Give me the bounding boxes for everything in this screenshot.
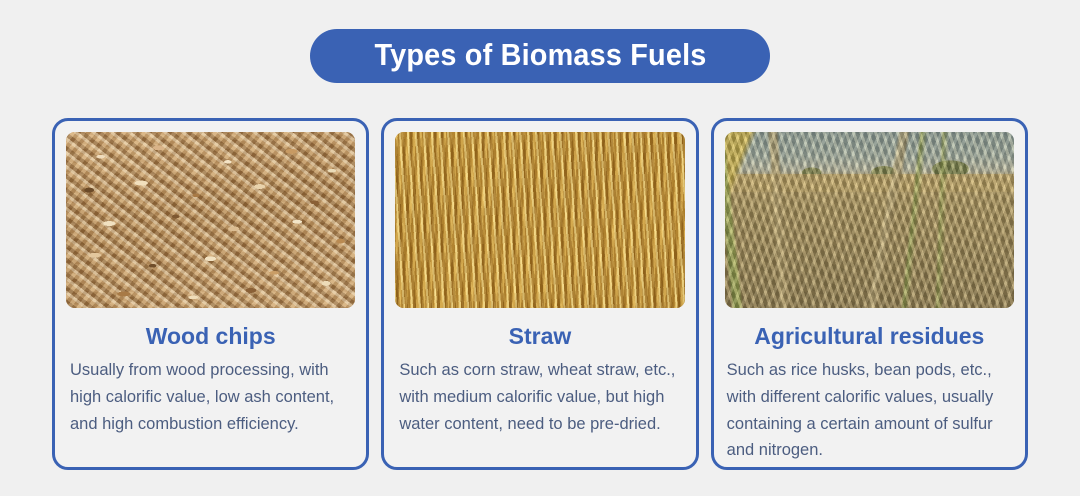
- card-heading: Straw: [509, 324, 572, 349]
- card-wood-chips: Wood chips Usually from wood processing,…: [52, 118, 369, 470]
- card-straw: Straw Such as corn straw, wheat straw, e…: [381, 118, 698, 470]
- agricultural-residues-photo: [725, 132, 1014, 308]
- biomass-fuel-card-list: Wood chips Usually from wood processing,…: [52, 118, 1028, 470]
- card-description: Such as rice husks, bean pods, etc., wit…: [725, 357, 1014, 464]
- straw-photo: [395, 132, 684, 308]
- card-description: Such as corn straw, wheat straw, etc., w…: [395, 357, 684, 437]
- card-heading: Wood chips: [146, 324, 276, 349]
- page-header: Types of Biomass Fuels: [0, 0, 1080, 112]
- wood-chips-texture: [66, 132, 355, 308]
- page-title: Types of Biomass Fuels: [374, 39, 706, 70]
- wood-chips-photo: [66, 132, 355, 308]
- card-agricultural-residues: Agricultural residues Such as rice husks…: [711, 118, 1028, 470]
- card-heading: Agricultural residues: [754, 324, 984, 349]
- straw-texture: [395, 132, 684, 308]
- agricultural-residues-texture: [725, 132, 1014, 308]
- card-description: Usually from wood processing, with high …: [66, 357, 355, 437]
- title-badge: Types of Biomass Fuels: [310, 29, 771, 83]
